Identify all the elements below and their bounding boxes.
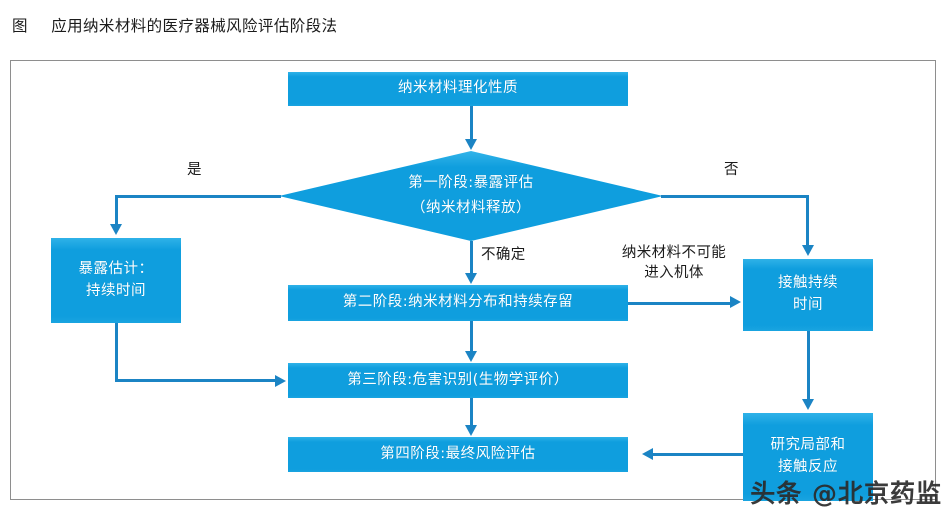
connector-stage2-to-stage3 bbox=[470, 321, 473, 351]
node-contact-duration[interactable]: 接触持续 时间 bbox=[743, 259, 873, 331]
connector-stage1-to-stage2 bbox=[470, 241, 473, 273]
arrowhead-contact-duration-to-local-response bbox=[802, 399, 814, 410]
node-stage3-line-1: 第三阶段:危害识别(生物学评价） bbox=[347, 370, 569, 392]
connector-stage1-yes-vertical bbox=[115, 195, 118, 225]
edge-label-unlikely-entry-line-2: 进入机体 bbox=[609, 264, 739, 284]
node-exposure-estimate-line-1: 暴露估计： bbox=[79, 259, 154, 281]
figure-caption-label: 图 bbox=[12, 17, 28, 35]
connector-stage1-yes-horizontal bbox=[115, 195, 281, 198]
node-stage4-line-1: 第四阶段:最终风险评估 bbox=[380, 444, 535, 466]
connector-exposure-to-stage3-vertical bbox=[115, 323, 118, 380]
node-stage1-line-2: （纳米材料释放） bbox=[411, 196, 531, 221]
arrowhead-exposure-to-stage3 bbox=[275, 375, 286, 387]
connector-exposure-to-stage3-horizontal bbox=[115, 379, 275, 382]
connector-contact-duration-to-local-response bbox=[807, 331, 810, 399]
node-stage2-line-1: 第二阶段:纳米材料分布和持续存留 bbox=[343, 292, 573, 314]
edge-label-uncertain: 不确定 bbox=[481, 246, 526, 266]
connector-stage3-to-stage4 bbox=[470, 398, 473, 425]
node-stage2-distribution[interactable]: 第二阶段:纳米材料分布和持续存留 bbox=[288, 285, 628, 321]
connector-stage2-to-contact-duration bbox=[628, 302, 730, 305]
arrowhead-stage2-to-stage3 bbox=[465, 351, 477, 362]
node-stage1-line-1: 第一阶段:暴露评估 bbox=[408, 171, 533, 196]
edge-label-unlikely-entry: 纳米材料不可能 进入机体 bbox=[609, 244, 739, 283]
node-stage1-exposure-assessment[interactable]: 第一阶段:暴露评估 （纳米材料释放） bbox=[279, 151, 663, 241]
connector-properties-to-stage1 bbox=[470, 106, 473, 139]
edge-label-unlikely-entry-line-1: 纳米材料不可能 bbox=[609, 244, 739, 264]
diagram-frame: 纳米材料理化性质 第一阶段:暴露评估 （纳米材料释放） 暴露 bbox=[10, 60, 936, 500]
node-contact-duration-line-2: 时间 bbox=[793, 295, 823, 317]
arrowhead-stage3-to-stage4 bbox=[465, 425, 477, 436]
connector-local-response-to-stage4 bbox=[653, 453, 743, 456]
arrowhead-stage1-no bbox=[802, 245, 814, 256]
node-stage3-hazard-identification[interactable]: 第三阶段:危害识别(生物学评价） bbox=[288, 363, 628, 398]
connector-stage1-no-vertical bbox=[806, 195, 809, 245]
watermark: 头条 @北京药监 bbox=[750, 474, 942, 510]
edge-label-no: 否 bbox=[724, 161, 739, 181]
arrowhead-local-response-to-stage4 bbox=[642, 448, 653, 460]
edge-label-yes: 是 bbox=[187, 161, 202, 181]
node-exposure-estimate[interactable]: 暴露估计： 持续时间 bbox=[51, 238, 181, 323]
node-nanomaterial-properties[interactable]: 纳米材料理化性质 bbox=[288, 72, 628, 106]
connector-stage1-no-horizontal bbox=[661, 195, 809, 198]
node-local-contact-response-line-1: 研究局部和 bbox=[771, 435, 846, 457]
node-contact-duration-line-1: 接触持续 bbox=[778, 273, 838, 295]
arrowhead-properties-to-stage1 bbox=[465, 139, 477, 150]
figure-caption: 图 应用纳米材料的医疗器械风险评估阶段法 bbox=[12, 14, 337, 36]
arrowhead-stage1-to-stage2 bbox=[465, 273, 477, 284]
figure-caption-text: 应用纳米材料的医疗器械风险评估阶段法 bbox=[51, 17, 337, 35]
arrowhead-stage2-to-contact-duration bbox=[730, 296, 741, 308]
node-stage1-text: 第一阶段:暴露评估 （纳米材料释放） bbox=[279, 151, 663, 241]
node-stage4-final-risk-assessment[interactable]: 第四阶段:最终风险评估 bbox=[288, 437, 628, 472]
node-exposure-estimate-line-2: 持续时间 bbox=[86, 281, 146, 303]
flowchart-page: 图 应用纳米材料的医疗器械风险评估阶段法 纳米材料理化性质 bbox=[0, 0, 948, 512]
arrowhead-stage1-yes bbox=[110, 224, 122, 235]
node-nanomaterial-properties-line-1: 纳米材料理化性质 bbox=[398, 78, 518, 100]
